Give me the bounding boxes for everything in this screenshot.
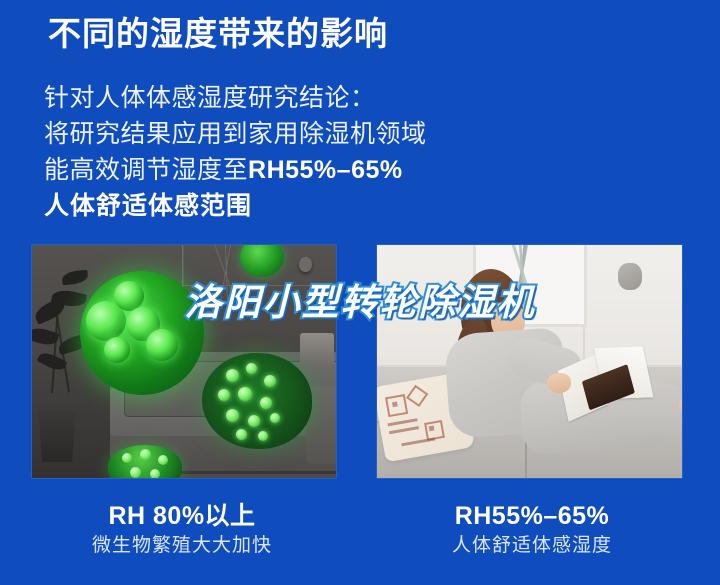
photo-panels [0, 245, 720, 478]
caption-title: RH55%–65% [382, 500, 682, 532]
poster-root: 不同的湿度带来的影响 针对人体体感湿度研究结论： 将研究结果应用到家用除湿机领域… [0, 0, 720, 585]
hanging-decor-icon [214, 245, 240, 305]
caption-comfort-humidity: RH55%–65% 人体舒适体感湿度 [382, 500, 682, 560]
germ-cluster-mid [202, 353, 312, 449]
page-title: 不同的湿度带来的影响 [48, 16, 388, 53]
body-line-1: 针对人体体感湿度研究结论： [44, 80, 514, 116]
germ-cluster-large [80, 271, 204, 395]
person-reading [429, 273, 625, 449]
bright-room-scene [377, 245, 682, 478]
body-line-2: 将研究结果应用到家用除湿机领域 [44, 116, 514, 152]
side-table [300, 333, 334, 365]
humidity-range-value: RH55%–65% [248, 156, 403, 184]
caption-subtitle: 微生物繁殖大大加快 [32, 532, 332, 560]
person-hand [547, 373, 571, 393]
photo-comfort-humidity [377, 245, 682, 478]
body-copy: 针对人体体感湿度研究结论： 将研究结果应用到家用除湿机领域 能高效调节湿度至RH… [44, 80, 514, 224]
caption-subtitle: 人体舒适体感湿度 [382, 532, 682, 560]
caption-high-humidity: RH 80%以上 微生物繁殖大大加快 [32, 500, 332, 560]
dark-room-scene [32, 245, 336, 478]
plant-pot-icon [36, 410, 78, 462]
germ-cluster-small [240, 245, 284, 277]
plant-leaf [61, 270, 88, 286]
body-line-3: 能高效调节湿度至RH55%–65% [44, 152, 514, 188]
caption-title: RH 80%以上 [32, 500, 332, 532]
wall-knob-icon [299, 257, 312, 272]
photo-high-humidity [32, 245, 336, 478]
body-line-4: 人体舒适体感范围 [44, 188, 514, 224]
panel-captions: RH 80%以上 微生物繁殖大大加快 RH55%–65% 人体舒适体感湿度 [0, 500, 720, 580]
body-line-3-prefix: 能高效调节湿度至 [44, 156, 248, 184]
wall-line [182, 285, 336, 286]
